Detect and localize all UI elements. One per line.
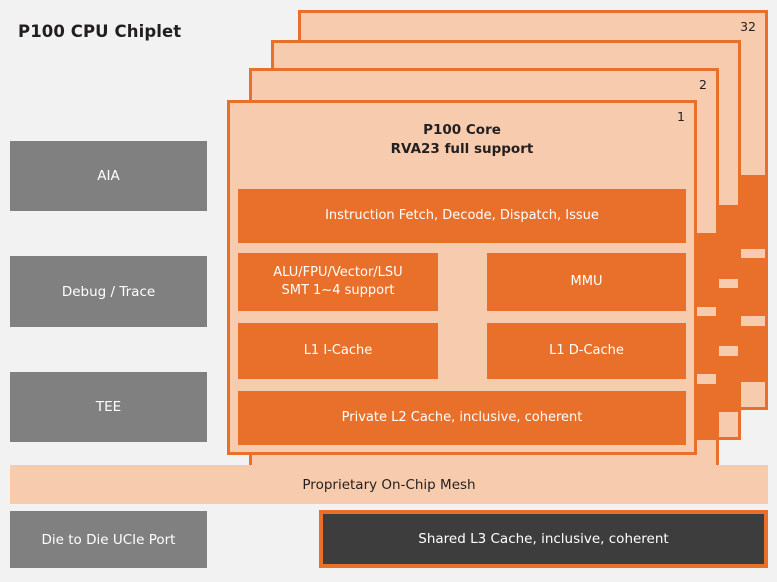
block-mmu[interactable]: MMU <box>487 253 686 311</box>
die-to-die-ucie-port[interactable]: Die to Die UCIe Port <box>10 511 207 568</box>
core-card-32-sliver-a <box>739 175 765 249</box>
core-heading-line2: RVA23 full support <box>230 140 694 159</box>
block-instruction-fetch[interactable]: Instruction Fetch, Decode, Dispatch, Iss… <box>238 189 686 243</box>
core-card-2-number: 2 <box>699 79 707 92</box>
block-private-l2-cache[interactable]: Private L2 Cache, inclusive, coherent <box>238 391 686 445</box>
core-card-32-sliver-b <box>739 258 765 316</box>
core-card-1[interactable]: 1 P100 Core RVA23 full support Instructi… <box>227 100 697 455</box>
sidebar-item-tee[interactable]: TEE <box>10 372 207 442</box>
block-l1-d-cache[interactable]: L1 D-Cache <box>487 323 686 379</box>
block-alu-line1: ALU/FPU/Vector/LSU <box>273 264 402 282</box>
page-title: P100 CPU Chiplet <box>18 22 181 41</box>
sidebar-item-aia[interactable]: AIA <box>10 141 207 211</box>
on-chip-mesh-bar[interactable]: Proprietary On-Chip Mesh <box>10 465 768 504</box>
block-alu-fpu-vector-lsu[interactable]: ALU/FPU/Vector/LSU SMT 1~4 support <box>238 253 438 311</box>
shared-l3-cache[interactable]: Shared L3 Cache, inclusive, coherent <box>319 510 768 568</box>
core-heading-line1: P100 Core <box>230 121 694 140</box>
core-card-32-sliver-c <box>739 326 765 382</box>
sidebar-item-debug-trace[interactable]: Debug / Trace <box>10 256 207 327</box>
core-heading: P100 Core RVA23 full support <box>230 121 694 159</box>
block-l1-i-cache[interactable]: L1 I-Cache <box>238 323 438 379</box>
core-card-32-number: 32 <box>740 21 756 34</box>
diagram-canvas: P100 CPU Chiplet 32 2 1 P100 Core RVA23 … <box>0 0 777 582</box>
block-alu-line2: SMT 1~4 support <box>281 282 394 300</box>
